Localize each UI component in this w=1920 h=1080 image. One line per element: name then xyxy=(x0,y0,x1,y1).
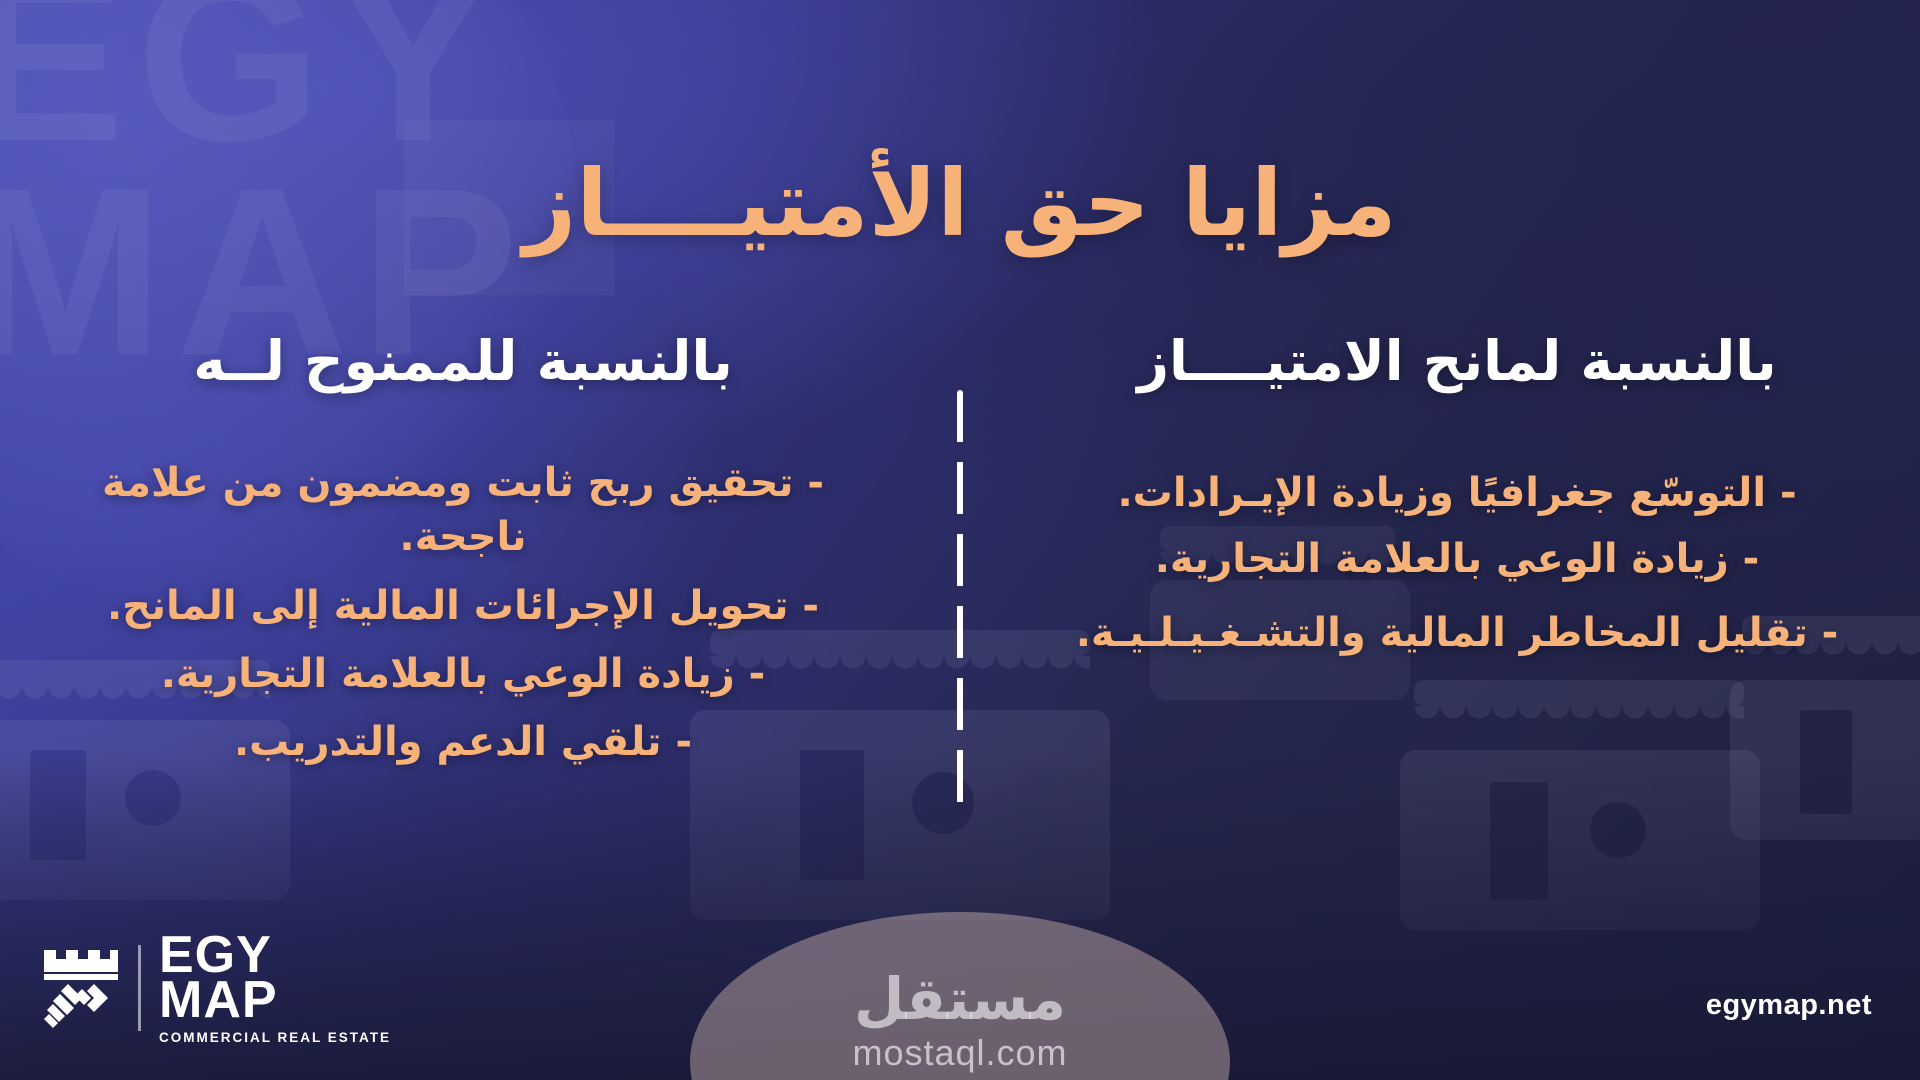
list-item: - زيادة الوعي بالعلامة التجارية. xyxy=(1042,532,1872,586)
logo-tagline: COMMERCIAL REAL ESTATE xyxy=(159,1032,391,1044)
list-item: - التوسّع جغرافيًا وزيادة الإيـرادات. xyxy=(1042,466,1872,520)
watermark-latin: mostaql.com xyxy=(750,1032,1170,1074)
handshake-castle-icon xyxy=(42,944,120,1032)
column-franchisee-list: - تحقيق ربح ثابت ومضمون من علامة ناجحة. … xyxy=(48,456,878,770)
logo-wordmark: EGY MAP COMMERCIAL REAL ESTATE xyxy=(159,933,391,1044)
site-url: egymap.net xyxy=(1706,989,1872,1022)
column-franchisor: بالنسبة لمانح الامتيــــاز - التوسّع جغر… xyxy=(1042,330,1872,671)
logo-line-map: MAP xyxy=(159,978,391,1023)
list-item: - تلقي الدعم والتدريب. xyxy=(48,715,878,769)
column-franchisee: بالنسبة للممنوح لــه - تحقيق ربح ثابت وم… xyxy=(48,330,878,784)
list-item: - تحقيق ربح ثابت ومضمون من علامة ناجحة. xyxy=(48,456,878,565)
logo-divider xyxy=(138,945,141,1031)
list-item: - زيادة الوعي بالعلامة التجارية. xyxy=(48,647,878,701)
column-franchisor-heading: بالنسبة لمانح الامتيــــاز xyxy=(1042,330,1872,394)
columns-container: بالنسبة لمانح الامتيــــاز - التوسّع جغر… xyxy=(0,330,1920,890)
list-item: - تقليل المخاطر المالية والتشـغـيـلـيـة. xyxy=(1042,607,1872,659)
watermark-arabic: مستقل xyxy=(750,969,1170,1030)
infographic-canvas: EGY MAP xyxy=(0,0,1920,1080)
column-franchisor-list: - التوسّع جغرافيًا وزيادة الإيـرادات. - … xyxy=(1042,466,1872,659)
column-franchisee-heading: بالنسبة للممنوح لــه xyxy=(48,330,878,394)
mostaql-watermark: مستقل mostaql.com xyxy=(750,969,1170,1074)
egymap-logo: EGY MAP COMMERCIAL REAL ESTATE xyxy=(42,933,391,1044)
list-item: - تحويل الإجرائات المالية إلى المانح. xyxy=(48,579,878,633)
page-title: مزايا حق الأمتيــــاز xyxy=(0,150,1920,257)
watermark-ellipse xyxy=(690,912,1230,1080)
